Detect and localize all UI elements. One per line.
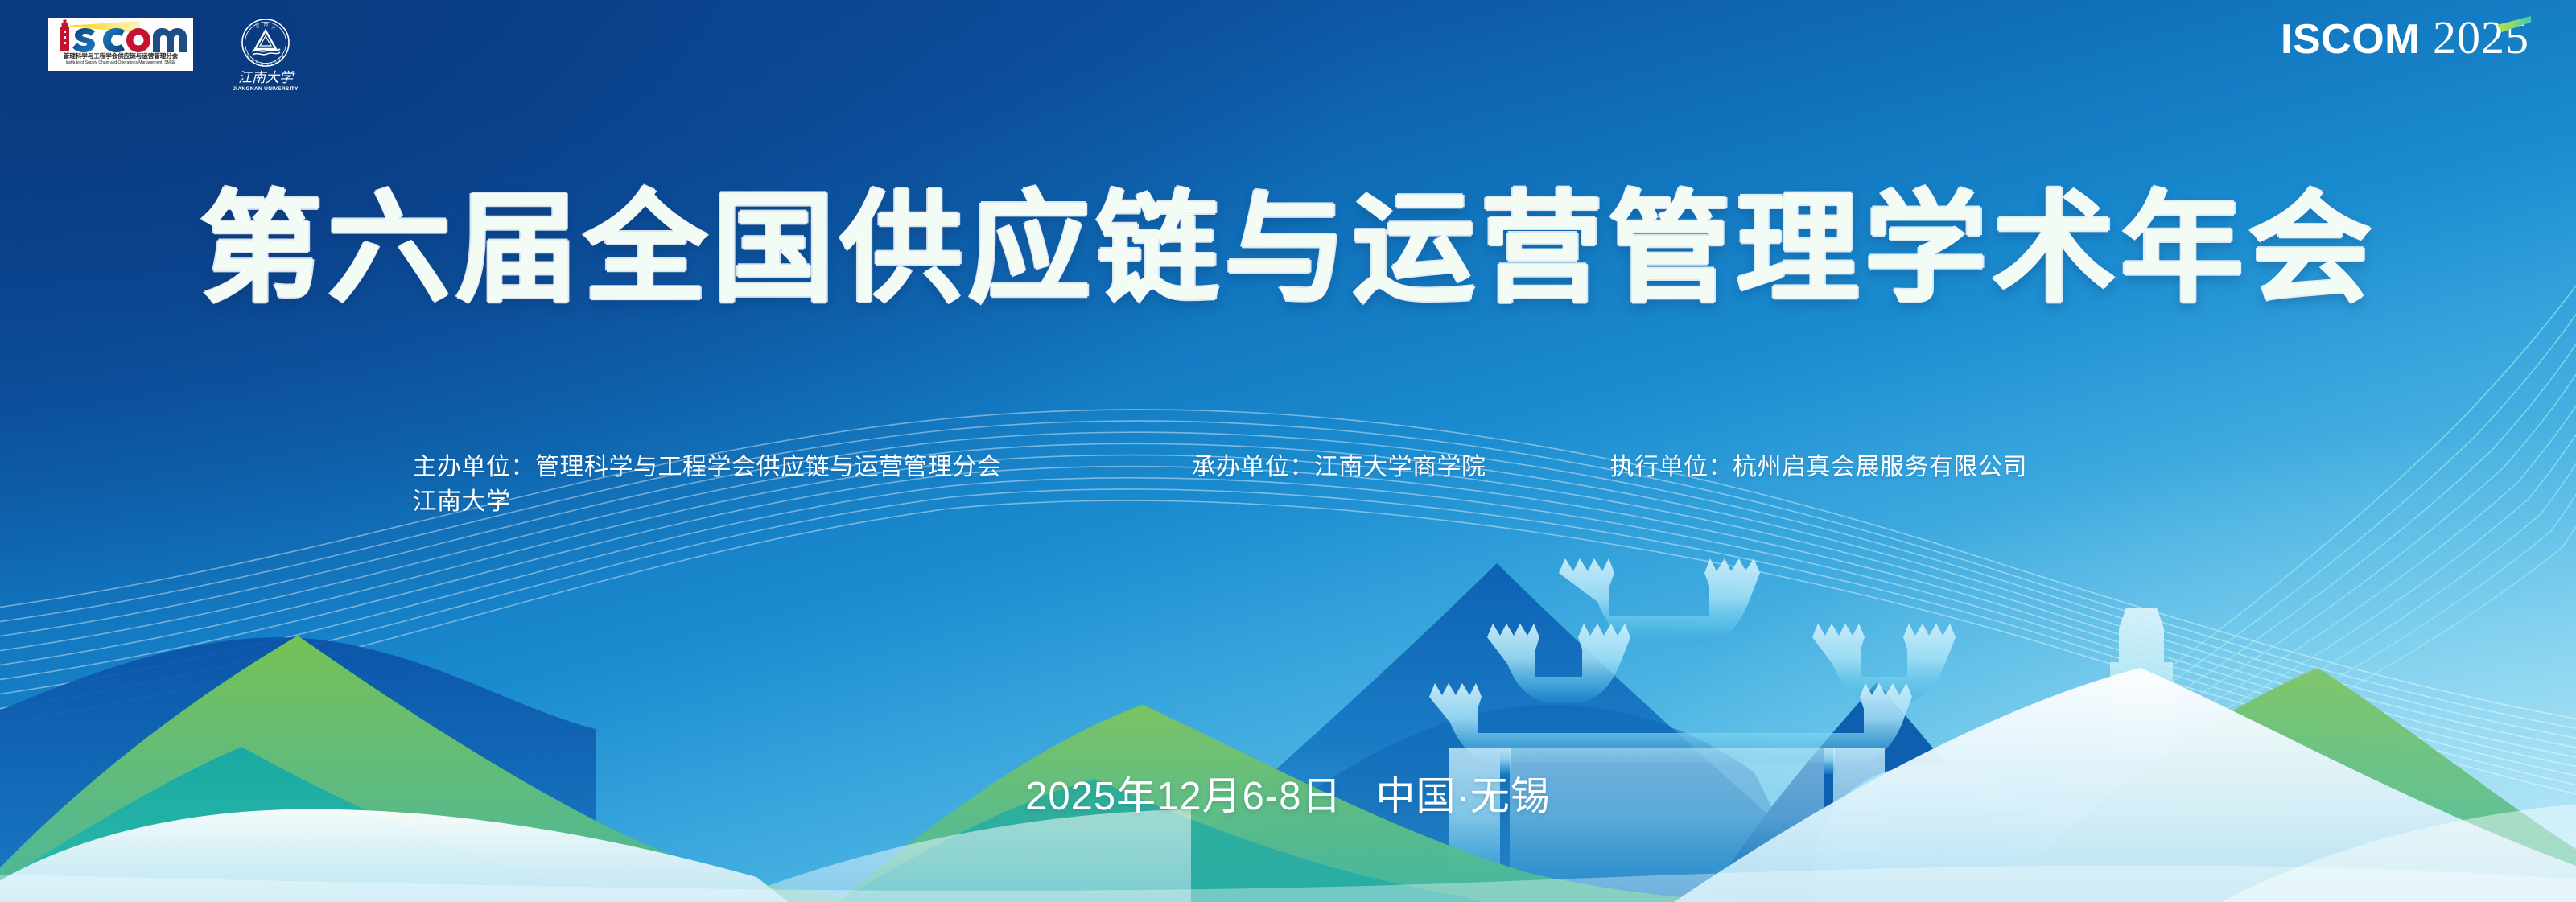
organizer-value: 江南大学商学院: [1314, 454, 1486, 480]
iscom-logo-en-name: Institute of Supply Chain and Operations…: [65, 61, 175, 65]
jiangnan-university-logo[interactable]: 江 南 大 J I A N G N A N U N 江南大学: [227, 18, 304, 93]
jiangnan-university-seal-icon: 江 南 大 J I A N G N A N U N: [241, 18, 291, 68]
conference-banner: 管理科学与工程学会供应链与运营管理分会 Institute of Supply …: [0, 0, 2576, 902]
iscom-association-logo[interactable]: 管理科学与工程学会供应链与运营管理分会 Institute of Supply …: [48, 18, 193, 71]
iscom-wordmark-year-text: 2025: [2433, 11, 2529, 64]
svg-text:N: N: [255, 60, 259, 65]
jiangnan-university-cn-calligraphy: 江南大学: [227, 68, 304, 86]
iscom-2025-wordmark: ISCOM 2025: [2281, 14, 2529, 61]
conference-date: 2025年12月6-8日: [1025, 775, 1342, 818]
organizer-credits: 主办单位：管理科学与工程学会供应链与运营管理分会 江南大学 承办单位：江南大学商…: [0, 451, 2576, 519]
header-logos: 管理科学与工程学会供应链与运营管理分会 Institute of Supply …: [48, 18, 304, 93]
executor-value: 杭州启真会展服务有限公司: [1733, 454, 2027, 480]
page-title: 第六届全国供应链与运营管理学术年会: [0, 189, 2576, 310]
svg-text:大: 大: [270, 24, 276, 31]
iscom-logo-cn-name: 管理科学与工程学会供应链与运营管理分会: [64, 53, 178, 60]
svg-text:N: N: [266, 62, 270, 66]
svg-text:江南大学: 江南大学: [238, 70, 295, 86]
iscom-wordmark-name: ISCOM: [2281, 19, 2420, 60]
date-location-line: 2025年12月6-8日中国·无锡: [0, 764, 2576, 822]
executor-organization-block: 执行单位：杭州启真会展服务有限公司: [1610, 451, 2174, 485]
iscom-wordmark-year: 2025: [2433, 14, 2529, 61]
jiangnan-university-en-name: JIANGNAN UNIVERSITY: [233, 87, 299, 93]
svg-text:A: A: [250, 58, 255, 63]
host-line1: 管理科学与工程学会供应链与运营管理分会: [535, 454, 1002, 480]
host-label: 主办单位：: [413, 454, 536, 480]
executor-label: 执行单位：: [1610, 454, 1733, 480]
host-line2: 江南大学: [413, 485, 1192, 520]
iscom-lighthouse-wordmark-icon: [52, 19, 190, 54]
organizer-organization-block: 承办单位：江南大学商学院: [1192, 451, 1610, 485]
svg-text:江: 江: [255, 23, 261, 29]
conference-location: 中国·无锡: [1376, 775, 1551, 818]
svg-text:南: 南: [264, 22, 268, 27]
svg-text:G: G: [261, 62, 264, 66]
organizer-label: 承办单位：: [1192, 454, 1315, 480]
host-organization-block: 主办单位：管理科学与工程学会供应链与运营管理分会 江南大学: [403, 451, 1192, 519]
